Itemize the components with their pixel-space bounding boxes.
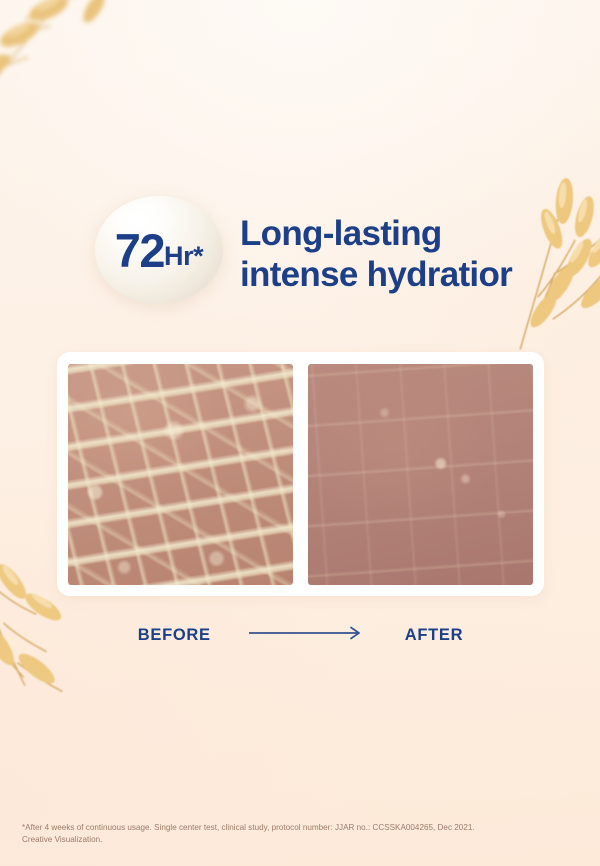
arrow-right-icon [249, 626, 367, 645]
headline-line-1: Long-lasting [240, 214, 442, 253]
after-label: AFTER [405, 626, 464, 645]
headline: Long-lasting intense hydratior [240, 213, 600, 296]
promo-banner: 72 Hr* Long-lasting intense hydratior BE… [0, 0, 600, 866]
footnote-line-1: *After 4 weeks of continuous usage. Sing… [22, 822, 588, 834]
badge-text: 72 Hr* [95, 196, 223, 304]
72hr-claim-badge: 72 Hr* [95, 196, 223, 304]
footnote: *After 4 weeks of continuous usage. Sing… [22, 822, 588, 846]
after-skin-image [308, 364, 533, 585]
oat-sprig-icon-top-left [0, 0, 137, 153]
headline-line-2: intense hydratior [240, 254, 600, 295]
before-after-captions: BEFORE AFTER [57, 626, 544, 645]
before-skin-image [68, 364, 293, 585]
footnote-line-2: Creative Visualization. [22, 834, 588, 846]
before-label: BEFORE [138, 626, 211, 645]
badge-unit: Hr* [164, 243, 203, 270]
badge-number: 72 [115, 227, 164, 274]
before-after-card [57, 352, 544, 596]
